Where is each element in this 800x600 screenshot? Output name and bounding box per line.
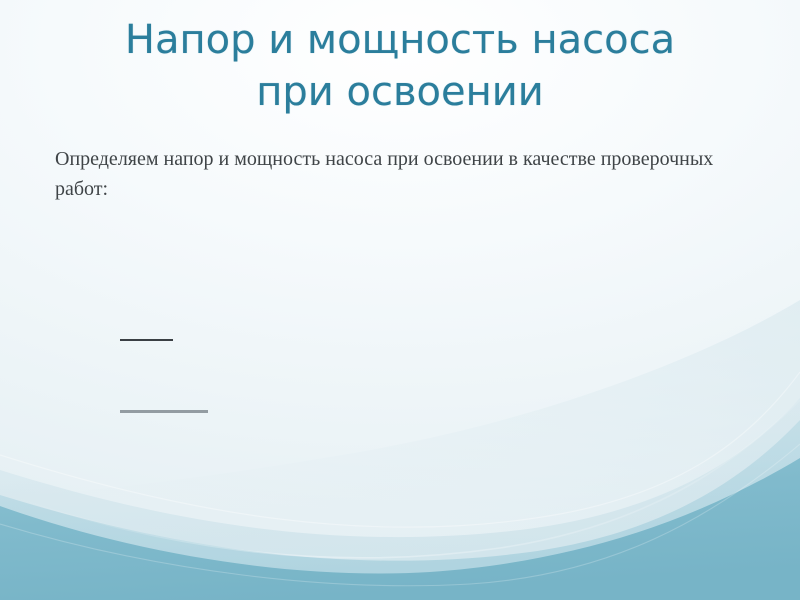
- wave-streak-lower: [0, 444, 800, 586]
- title-line-1: Напор и мощность насоса: [125, 17, 675, 63]
- wave-arc-faint: [0, 398, 800, 600]
- fraction-bar-upper: [120, 339, 173, 341]
- body-block: Определяем напор и мощность насоса при о…: [55, 144, 715, 204]
- wave-arc-main: [0, 458, 800, 600]
- wave-haze: [0, 300, 800, 600]
- wave-streak-upper: [0, 400, 800, 558]
- wave-arc-soft: [0, 420, 800, 600]
- wave-streak-outer: [0, 372, 800, 527]
- title-block: Напор и мощность насоса при освоении: [60, 14, 740, 118]
- body-paragraph: Определяем напор и мощность насоса при о…: [55, 144, 715, 204]
- fraction-bar-lower: [120, 410, 208, 413]
- slide-canvas: Напор и мощность насоса при освоении Опр…: [0, 0, 800, 600]
- page-title: Напор и мощность насоса при освоении: [60, 14, 740, 118]
- title-line-2: при освоении: [256, 69, 544, 115]
